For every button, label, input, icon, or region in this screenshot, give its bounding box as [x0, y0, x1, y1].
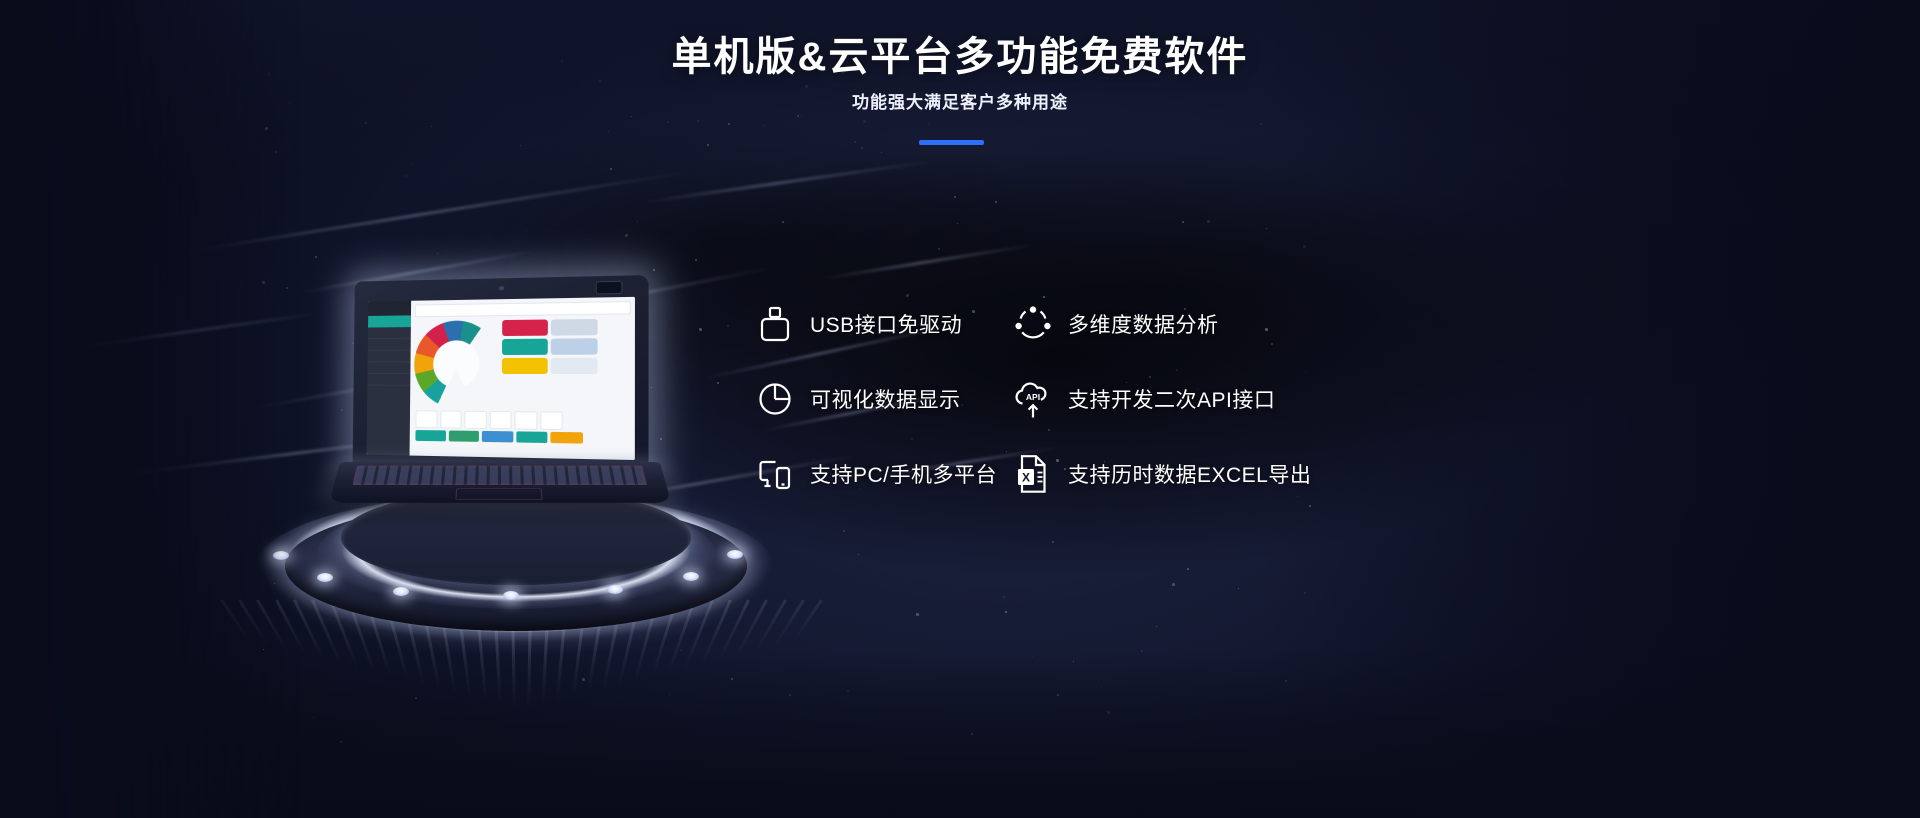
feature-item-usb[interactable]: USB接口免驱动	[752, 301, 1010, 347]
webcam-icon	[499, 286, 505, 290]
camera-bar	[596, 281, 623, 295]
feature-item-api[interactable]: API 支持开发二次API接口	[1010, 376, 1275, 422]
dashboard-menu-item	[368, 327, 411, 339]
devices-icon	[752, 451, 798, 497]
pie-chart-icon	[752, 376, 798, 422]
dashboard-widgets	[414, 318, 631, 394]
trackpad	[455, 488, 542, 500]
feature-row: 可视化数据显示 API 支持开发二次API接口	[752, 375, 1372, 423]
dashboard-menu-active	[368, 315, 411, 327]
feature-label: 支持PC/手机多平台	[810, 459, 997, 489]
keyboard	[352, 466, 647, 485]
feature-label: 支持历时数据EXCEL导出	[1068, 459, 1311, 489]
excel-file-icon: X	[1010, 451, 1056, 497]
usb-icon	[752, 301, 798, 347]
hero-banner: 单机版&云平台多功能免费软件 功能强大满足客户多种用途 USB接口免驱动	[0, 0, 1920, 818]
dashboard-side-cards	[551, 319, 598, 395]
feature-item-analysis[interactable]: 多维度数据分析	[1010, 301, 1219, 347]
feature-label: USB接口免驱动	[810, 309, 962, 339]
feature-row: USB接口免驱动 多维度数据分析	[752, 300, 1372, 348]
network-dots-icon	[1010, 301, 1056, 347]
cloud-api-icon: API	[1010, 376, 1056, 422]
feature-list: USB接口免驱动 多维度数据分析	[752, 300, 1372, 525]
laptop-base	[329, 462, 671, 503]
dashboard-status-cards	[502, 320, 548, 395]
feature-row: 支持PC/手机多平台 X 支持历时数据EXCEL导出	[752, 450, 1372, 498]
feature-item-visualization[interactable]: 可视化数据显示	[752, 376, 1010, 422]
feature-label: 多维度数据分析	[1068, 309, 1219, 339]
dashboard-content	[410, 297, 635, 460]
dashboard-gauge-chart	[414, 320, 499, 394]
dashboard-pill-row	[415, 430, 583, 444]
accent-divider	[919, 140, 984, 145]
dashboard-brand	[368, 301, 411, 316]
feature-item-multiplatform[interactable]: 支持PC/手机多平台	[752, 451, 1010, 497]
dashboard-menu-item	[367, 374, 410, 386]
dashboard-kpi-row	[416, 410, 563, 430]
laptop-screen	[367, 297, 635, 460]
vignette-left	[0, 0, 300, 818]
feature-label: 可视化数据显示	[810, 384, 961, 414]
laptop	[340, 278, 670, 528]
svg-text:API: API	[1026, 392, 1040, 402]
dashboard-toolbar	[415, 301, 631, 317]
dashboard-preview	[367, 297, 635, 460]
dashboard-menu-item	[368, 339, 411, 351]
page-subtitle: 功能强大满足客户多种用途	[0, 88, 1920, 113]
feature-item-excel-export[interactable]: X 支持历时数据EXCEL导出	[1010, 451, 1311, 497]
dashboard-menu-item	[368, 351, 411, 363]
dashboard-menu-item	[368, 362, 411, 374]
laptop-lid	[353, 275, 649, 472]
page-title: 单机版&云平台多功能免费软件	[0, 24, 1920, 82]
svg-text:X: X	[1022, 471, 1030, 485]
feature-label: 支持开发二次API接口	[1068, 384, 1275, 414]
dashboard-sidebar	[367, 301, 412, 456]
